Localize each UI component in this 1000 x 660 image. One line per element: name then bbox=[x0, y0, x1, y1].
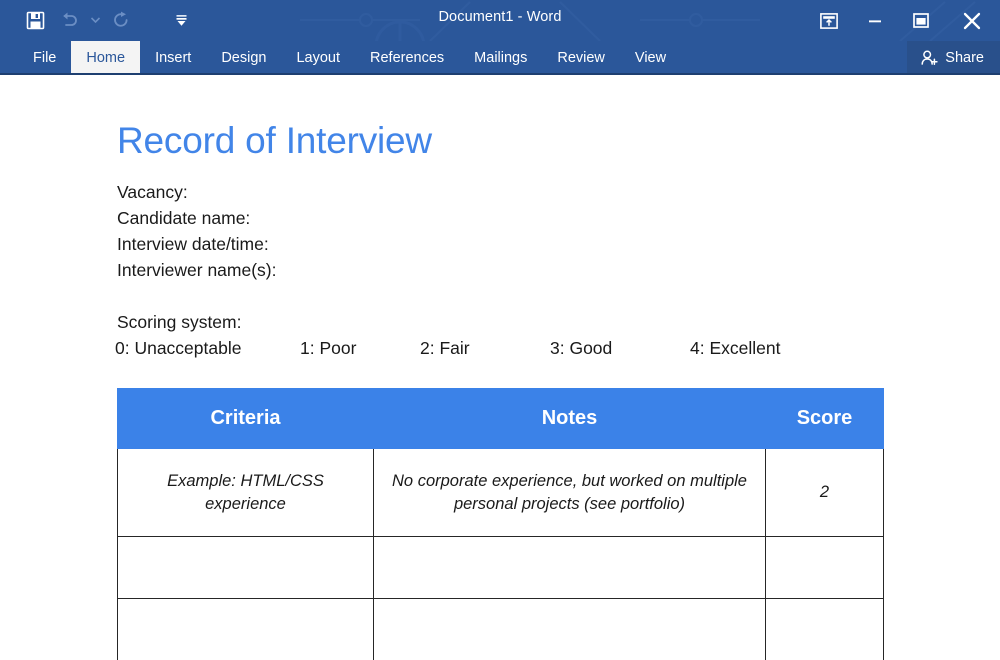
tab-layout[interactable]: Layout bbox=[281, 41, 355, 75]
tab-mailings[interactable]: Mailings bbox=[459, 41, 542, 75]
table-body: Example: HTML/CSS experience No corporat… bbox=[118, 449, 884, 660]
scoring-level-2: 2: Fair bbox=[420, 335, 550, 361]
ribbon-display-options-icon[interactable] bbox=[806, 0, 852, 41]
tab-review[interactable]: Review bbox=[542, 41, 620, 75]
page-title: Record of Interview bbox=[117, 119, 432, 163]
cell-criteria[interactable] bbox=[118, 537, 374, 599]
column-header-notes: Notes bbox=[374, 389, 766, 449]
share-label: Share bbox=[945, 50, 984, 66]
window-controls bbox=[806, 0, 1000, 41]
cell-score[interactable] bbox=[766, 599, 884, 660]
cell-criteria[interactable] bbox=[118, 599, 374, 660]
cell-notes[interactable] bbox=[374, 537, 766, 599]
cell-criteria[interactable]: Example: HTML/CSS experience bbox=[118, 449, 374, 537]
table-row[interactable]: Example: HTML/CSS experience No corporat… bbox=[118, 449, 884, 537]
table-row[interactable] bbox=[118, 599, 884, 660]
minimize-icon[interactable] bbox=[852, 0, 898, 41]
field-interviewer-names: Interviewer name(s): bbox=[117, 257, 277, 283]
column-header-score: Score bbox=[766, 389, 884, 449]
tab-insert[interactable]: Insert bbox=[140, 41, 206, 75]
ribbon-tabs: File Home Insert Design Layout Reference… bbox=[18, 41, 681, 75]
scoring-scale: 0: Unacceptable 1: Poor 2: Fair 3: Good … bbox=[115, 335, 895, 361]
maximize-icon[interactable] bbox=[898, 0, 944, 41]
cell-score[interactable] bbox=[766, 537, 884, 599]
field-vacancy: Vacancy: bbox=[117, 179, 277, 205]
tab-file[interactable]: File bbox=[18, 41, 71, 75]
scoring-system-label: Scoring system: bbox=[117, 309, 241, 335]
scoring-level-1: 1: Poor bbox=[300, 335, 420, 361]
interview-scoring-table[interactable]: Criteria Notes Score Example: HTML/CSS e… bbox=[117, 388, 884, 660]
cell-notes[interactable] bbox=[374, 599, 766, 660]
tab-view[interactable]: View bbox=[620, 41, 681, 75]
cell-notes[interactable]: No corporate experience, but worked on m… bbox=[374, 449, 766, 537]
share-button[interactable]: Share bbox=[907, 41, 1000, 75]
column-header-criteria: Criteria bbox=[118, 389, 374, 449]
cell-score[interactable]: 2 bbox=[766, 449, 884, 537]
tab-home[interactable]: Home bbox=[71, 41, 140, 75]
close-icon[interactable] bbox=[944, 0, 1000, 41]
scoring-level-0: 0: Unacceptable bbox=[115, 335, 300, 361]
document-canvas[interactable]: Record of Interview Vacancy: Candidate n… bbox=[0, 75, 1000, 660]
tab-references[interactable]: References bbox=[355, 41, 459, 75]
tab-design[interactable]: Design bbox=[206, 41, 281, 75]
title-bar: Document1 - Word bbox=[0, 0, 1000, 41]
scoring-level-3: 3: Good bbox=[550, 335, 690, 361]
table-row[interactable] bbox=[118, 537, 884, 599]
table-header: Criteria Notes Score bbox=[118, 389, 884, 449]
word-application-window: Document1 - Word bbox=[0, 0, 1000, 660]
scoring-level-4: 4: Excellent bbox=[690, 335, 780, 361]
share-person-icon bbox=[921, 50, 938, 66]
form-fields: Vacancy: Candidate name: Interview date/… bbox=[117, 179, 277, 283]
table-header-row: Criteria Notes Score bbox=[118, 389, 884, 449]
field-interview-datetime: Interview date/time: bbox=[117, 231, 277, 257]
document-page[interactable]: Record of Interview Vacancy: Candidate n… bbox=[0, 75, 1000, 660]
field-candidate-name: Candidate name: bbox=[117, 205, 277, 231]
